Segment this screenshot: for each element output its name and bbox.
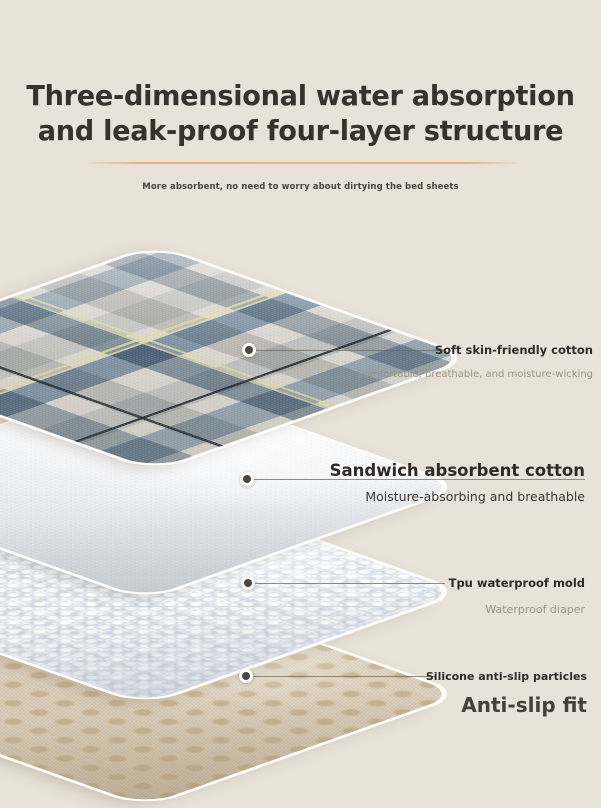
callout-text: Tpu waterproof mold Waterproof diaper — [240, 576, 585, 616]
callout-sublabel: Anti-slip fit — [235, 693, 587, 717]
callout-label: Sandwich absorbent cotton — [230, 461, 585, 480]
callout-sublabel: Comfortable, breathable, and moisture-wi… — [240, 369, 593, 380]
callout-text: Soft skin-friendly cotton Comfortable, b… — [240, 343, 593, 380]
page-title-line-1: Three-dimensional water absorption — [26, 79, 574, 112]
callout-text: Sandwich absorbent cotton Moisture-absor… — [230, 461, 585, 504]
callout-label: Silicone anti-slip particles — [235, 670, 587, 683]
header: Three-dimensional water absorption and l… — [0, 0, 601, 149]
page-subtitle: More absorbent, no need to worry about d… — [0, 182, 601, 192]
page-title: Three-dimensional water absorption and l… — [9, 0, 592, 149]
callout-label: Tpu waterproof mold — [240, 576, 585, 590]
callout-text: Silicone anti-slip particles Anti-slip f… — [235, 670, 587, 717]
infographic-canvas: Three-dimensional water absorption and l… — [0, 0, 601, 800]
title-divider — [88, 162, 516, 164]
page-title-line-2: and leak-proof four-layer structure — [9, 113, 592, 148]
callout-label: Soft skin-friendly cotton — [240, 343, 593, 357]
callout-sublabel: Waterproof diaper — [240, 603, 585, 616]
callout-sublabel: Moisture-absorbing and breathable — [230, 489, 585, 504]
